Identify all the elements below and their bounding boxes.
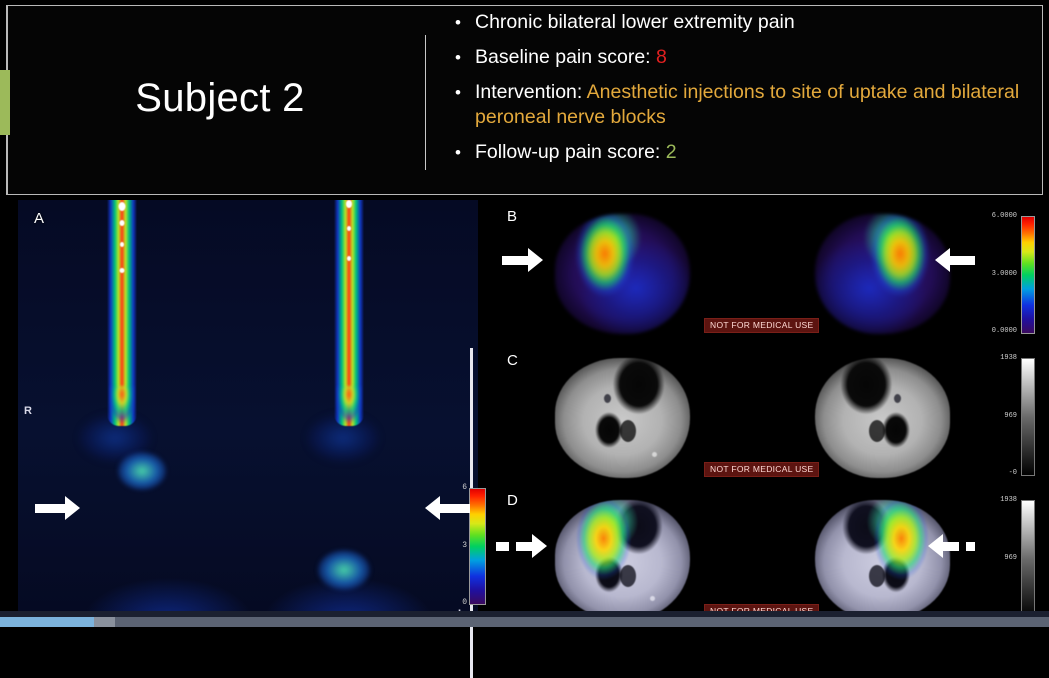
baseline-pain-score-value: 8 bbox=[656, 46, 667, 68]
focal-hotspot bbox=[120, 268, 125, 273]
bright-focus bbox=[652, 452, 657, 457]
foot-uptake-right bbox=[318, 550, 370, 590]
slide-header: Subject 2 • Chronic bilateral lower extr… bbox=[0, 0, 1049, 200]
arrow-b-right-icon bbox=[935, 248, 975, 272]
panel-d-axial-fused: D NOT FOR MEDICAL USE bbox=[480, 488, 975, 627]
colorbar-mid-label: 969 bbox=[979, 554, 1017, 562]
page-title: Subject 2 bbox=[135, 76, 304, 121]
mri-axial-right-leg bbox=[815, 358, 950, 478]
arrow-head bbox=[928, 534, 943, 558]
focal-hotspot bbox=[347, 256, 351, 261]
colorbar-max-label: 1938 bbox=[979, 496, 1017, 504]
colorbar-mid-label: 3 bbox=[449, 541, 467, 550]
mri-axial-left-leg bbox=[555, 358, 690, 478]
vessel-void bbox=[604, 394, 611, 403]
arrow-right-tibia-icon bbox=[425, 496, 470, 520]
watermark-c: NOT FOR MEDICAL USE bbox=[704, 462, 819, 477]
bullet-label: Follow-up pain score: bbox=[475, 141, 666, 163]
bullet-text: Chronic bilateral lower extremity pain bbox=[475, 10, 1035, 35]
panel-a-label: A bbox=[34, 210, 45, 227]
arrow-head bbox=[935, 248, 950, 272]
bullet-text: Follow-up pain score: 2 bbox=[475, 140, 1035, 165]
panel-c-axial-mri: C NOT FOR MEDICAL USE bbox=[480, 344, 975, 486]
figure-region: A R L 6 3 0 B NOT FOR MEDICAL USE bbox=[0, 200, 1049, 627]
panel-a-coronal-pet: A R bbox=[18, 200, 478, 619]
bullet-dot-icon: • bbox=[455, 45, 475, 70]
colorbar-max-label: 6 bbox=[449, 483, 467, 492]
progress-fill bbox=[0, 617, 94, 627]
panel-b-label: B bbox=[507, 208, 518, 225]
colorbar-mid-label: 969 bbox=[979, 412, 1017, 420]
vessel-void bbox=[894, 394, 901, 403]
bullet-dot-icon: • bbox=[455, 140, 475, 165]
arrow-tail bbox=[950, 256, 975, 265]
focal-hotspot bbox=[346, 200, 352, 208]
colorbar-min-label: -0 bbox=[979, 469, 1017, 477]
title-zone: Subject 2 bbox=[10, 5, 420, 195]
title-divider bbox=[425, 35, 426, 170]
video-progress-bar[interactable] bbox=[0, 617, 1049, 627]
arrow-b-left-icon bbox=[502, 248, 543, 272]
colorbar-gradient bbox=[1021, 216, 1035, 334]
vessel-void bbox=[869, 565, 885, 587]
vessel-void bbox=[869, 420, 885, 442]
tibia-distal-taper bbox=[110, 386, 134, 441]
side-marker-right: R bbox=[24, 405, 32, 417]
arrow-tail bbox=[516, 542, 532, 551]
arrow-d-right-icon bbox=[928, 534, 975, 558]
arrow-tail bbox=[35, 504, 65, 513]
panel-a-background bbox=[18, 200, 478, 619]
focal-hotspot bbox=[347, 226, 351, 231]
arrow-tail bbox=[502, 256, 528, 265]
list-item: • Follow-up pain score: 2 bbox=[455, 140, 1035, 165]
focal-hotspot bbox=[119, 202, 126, 211]
arrow-tail bbox=[440, 504, 470, 513]
arrow-head bbox=[532, 534, 547, 558]
bullet-label: Chronic bilateral lower extremity pain bbox=[475, 11, 795, 33]
arrow-dash bbox=[496, 542, 509, 551]
bullet-dot-icon: • bbox=[455, 80, 475, 105]
list-item: • Chronic bilateral lower extremity pain bbox=[455, 10, 1035, 35]
bullet-text: Baseline pain score: 8 bbox=[475, 45, 1035, 70]
bullet-dot-icon: • bbox=[455, 10, 475, 35]
panel-b-axial-pet: B NOT FOR MEDICAL USE bbox=[480, 200, 975, 342]
arrow-head bbox=[65, 496, 80, 520]
bright-focus bbox=[650, 596, 655, 601]
arrow-dash bbox=[966, 542, 975, 551]
list-item: • Intervention: Anesthetic injections to… bbox=[455, 80, 1035, 130]
bullet-text: Intervention: Anesthetic injections to s… bbox=[475, 80, 1035, 130]
followup-pain-score-value: 2 bbox=[666, 141, 677, 163]
vessel-void bbox=[620, 420, 636, 442]
panel-c-label: C bbox=[507, 352, 518, 369]
colorbar-max-label: 6.0000 bbox=[969, 212, 1017, 220]
fused-axial-left-leg bbox=[555, 500, 690, 620]
arrow-left-tibia-icon bbox=[35, 496, 80, 520]
colorbar-gradient bbox=[469, 488, 486, 605]
focal-hotspot bbox=[120, 220, 125, 226]
panel-d-label: D bbox=[507, 492, 518, 509]
watermark-b: NOT FOR MEDICAL USE bbox=[704, 318, 819, 333]
focal-hotspot bbox=[120, 242, 124, 247]
arrow-head bbox=[425, 496, 440, 520]
tibia-distal-taper bbox=[337, 386, 361, 441]
pet-axial-right-leg bbox=[815, 214, 950, 334]
vessel-void bbox=[620, 565, 636, 587]
colorbar-gradient bbox=[1021, 500, 1035, 618]
tibia-uptake-right bbox=[323, 200, 375, 446]
pet-axial-left-leg bbox=[555, 214, 690, 334]
list-item: • Baseline pain score: 8 bbox=[455, 45, 1035, 70]
colorbar-gradient bbox=[1021, 358, 1035, 476]
colorbar-min-label: 0.0000 bbox=[969, 327, 1017, 335]
bullet-label: Intervention: bbox=[475, 81, 587, 103]
colorbar-max-label: 1938 bbox=[979, 354, 1017, 362]
arrow-tail bbox=[943, 542, 959, 551]
arrow-d-left-icon bbox=[496, 534, 547, 558]
colorbar-mid-label: 3.0000 bbox=[969, 270, 1017, 278]
foot-uptake-left bbox=[118, 452, 166, 490]
arrow-head bbox=[528, 248, 543, 272]
colorbar-min-label: 0 bbox=[449, 598, 467, 607]
tibia-uptake-left bbox=[96, 200, 148, 446]
accent-bar bbox=[0, 70, 10, 135]
bullet-list: • Chronic bilateral lower extremity pain… bbox=[455, 10, 1035, 175]
fused-axial-right-leg bbox=[815, 500, 950, 620]
bullet-label: Baseline pain score: bbox=[475, 46, 656, 68]
